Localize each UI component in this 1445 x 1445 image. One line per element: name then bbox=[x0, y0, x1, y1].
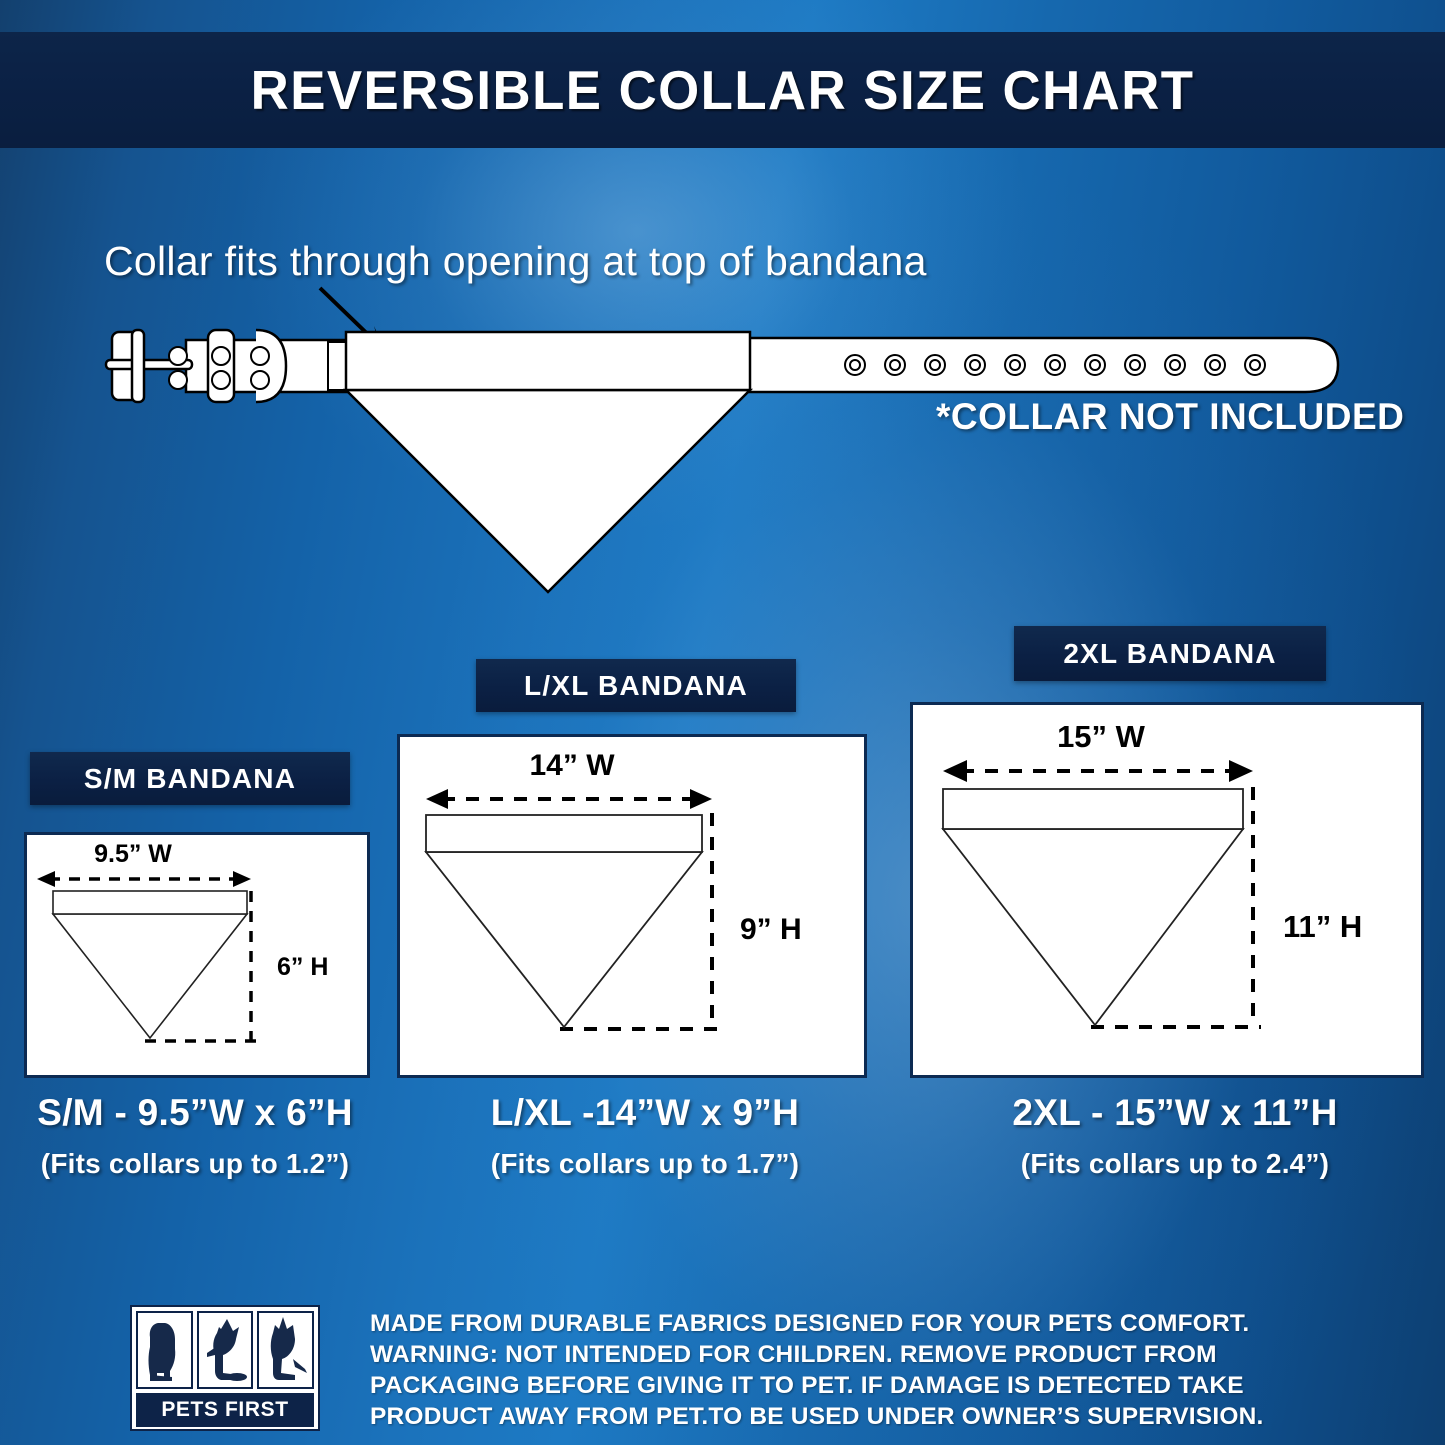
height-label-2xl: 11” H bbox=[1283, 909, 1362, 944]
diagram-box-lxl: 14” W 9” H bbox=[397, 734, 867, 1078]
size-badge-sm: S/M BANDANA bbox=[30, 752, 350, 805]
bandana-sleeve-lxl bbox=[426, 815, 702, 852]
collar-hole bbox=[1205, 355, 1225, 375]
width-label-2xl: 15” W bbox=[1057, 719, 1146, 754]
collar-hole bbox=[885, 355, 905, 375]
collar-hole bbox=[965, 355, 985, 375]
page-title: REVERSIBLE COLLAR SIZE CHART bbox=[251, 58, 1195, 122]
size-badge-lxl: L/XL BANDANA bbox=[476, 659, 796, 712]
collar-bandana-illustration bbox=[90, 270, 1360, 620]
caption-lxl-fit: (Fits collars up to 1.7”) bbox=[440, 1148, 850, 1180]
caption-lxl: L/XL -14”W x 9”H (Fits collars up to 1.7… bbox=[440, 1092, 850, 1180]
caption-2xl-fit: (Fits collars up to 2.4”) bbox=[945, 1148, 1405, 1180]
collar-hole bbox=[1245, 355, 1265, 375]
bandana-triangle-lxl bbox=[426, 852, 702, 1027]
collar-hole bbox=[1165, 355, 1185, 375]
bandana-sleeve-sm bbox=[53, 891, 247, 914]
width-label-lxl: 14” W bbox=[529, 749, 615, 782]
width-label-sm: 9.5” W bbox=[94, 840, 172, 868]
pets-first-logo: PETS FIRST bbox=[130, 1305, 320, 1431]
diagram-box-2xl: 15” W 11” H bbox=[910, 702, 1424, 1078]
bandana-sleeve-opening bbox=[346, 332, 750, 390]
diagram-box-sm: 9.5” W 6” H bbox=[24, 832, 370, 1078]
collar-hole bbox=[1085, 355, 1105, 375]
caption-sm: S/M - 9.5”W x 6”H (Fits collars up to 1.… bbox=[0, 1092, 390, 1180]
collar-hole bbox=[925, 355, 945, 375]
collar-hole bbox=[1005, 355, 1025, 375]
collar-hole bbox=[845, 355, 865, 375]
footer-disclaimer: MADE FROM DURABLE FABRICS DESIGNED FOR Y… bbox=[370, 1308, 1350, 1432]
caption-lxl-dimensions: L/XL -14”W x 9”H bbox=[440, 1092, 850, 1134]
bandana-triangle-sm bbox=[53, 914, 247, 1038]
disclaimer-line-2: WARNING: NOT INTENDED FOR CHILDREN. REMO… bbox=[370, 1339, 1350, 1370]
disclaimer-line-4: PRODUCT AWAY FROM PET.TO BE USED UNDER O… bbox=[370, 1401, 1350, 1432]
collar-hole bbox=[1125, 355, 1145, 375]
bandana-triangle-2xl bbox=[943, 829, 1243, 1025]
bandana-triangle bbox=[346, 390, 750, 592]
width-dimension-arrow-sm bbox=[37, 871, 251, 887]
bandana-sleeve-2xl bbox=[943, 789, 1243, 829]
caption-sm-fit: (Fits collars up to 1.2”) bbox=[0, 1148, 390, 1180]
disclaimer-line-3: PACKAGING BEFORE GIVING IT TO PET. IF DA… bbox=[370, 1370, 1350, 1401]
width-dimension-arrow-lxl bbox=[426, 789, 712, 809]
dog-shaking-paw-icon bbox=[197, 1311, 254, 1389]
dog-alert-sitting-icon bbox=[257, 1311, 314, 1389]
caption-2xl: 2XL - 15”W x 11”H (Fits collars up to 2.… bbox=[945, 1092, 1405, 1180]
size-chart-page: REVERSIBLE COLLAR SIZE CHART Collar fits… bbox=[0, 0, 1445, 1445]
dog-sitting-icon bbox=[136, 1311, 193, 1389]
size-badge-2xl: 2XL BANDANA bbox=[1014, 626, 1326, 681]
height-label-sm: 6” H bbox=[277, 953, 328, 981]
width-dimension-arrow-2xl bbox=[943, 760, 1253, 782]
title-band: REVERSIBLE COLLAR SIZE CHART bbox=[0, 32, 1445, 148]
logo-panels bbox=[136, 1311, 314, 1389]
collar-hole bbox=[1045, 355, 1065, 375]
caption-2xl-dimensions: 2XL - 15”W x 11”H bbox=[945, 1092, 1405, 1134]
logo-wordmark-text: PETS FIRST bbox=[161, 1398, 288, 1422]
logo-wordmark: PETS FIRST bbox=[136, 1393, 314, 1427]
height-label-lxl: 9” H bbox=[740, 913, 802, 946]
disclaimer-line-1: MADE FROM DURABLE FABRICS DESIGNED FOR Y… bbox=[370, 1308, 1350, 1339]
caption-sm-dimensions: S/M - 9.5”W x 6”H bbox=[0, 1092, 390, 1134]
